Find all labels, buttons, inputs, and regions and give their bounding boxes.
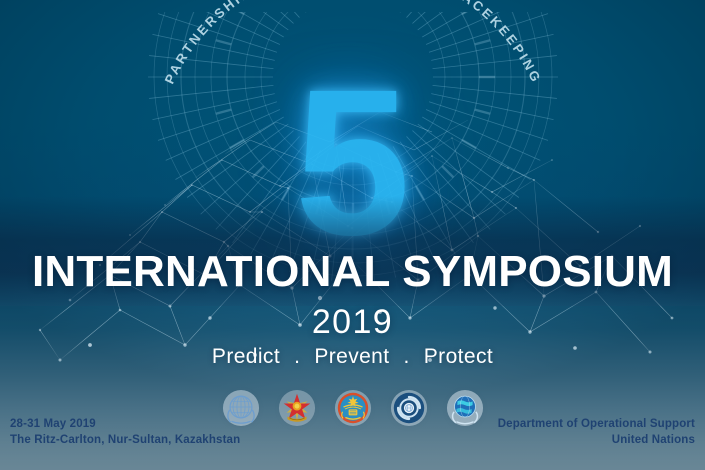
event-details: 28-31 May 2019 The Ritz-Carlton, Nur-Sul…	[10, 417, 240, 448]
event-dates: 28-31 May 2019	[10, 417, 240, 433]
organizer-organization: United Nations	[498, 433, 695, 449]
organizer-department: Department of Operational Support	[498, 417, 695, 433]
event-year: 2019	[0, 302, 705, 342]
red-star-emblem-icon	[278, 389, 316, 427]
organizer-details: Department of Operational Support United…	[498, 417, 695, 448]
tagline-separator-1: .	[294, 344, 300, 370]
blue-circular-emblem-icon	[390, 389, 428, 427]
symposium-banner: 5 PARTNERSHIP FOR TECHNOLOGY IN PEACEKEE…	[0, 0, 705, 470]
tagline-word-prevent: Prevent	[314, 345, 389, 368]
tagline-word-protect: Protect	[424, 345, 493, 368]
arc-tagline: PARTNERSHIP FOR TECHNOLOGY IN PEACEKEEPI…	[138, 0, 568, 196]
event-venue: The Ritz-Carlton, Nur-Sultan, Kazakhstan	[10, 433, 240, 449]
globe-wreath-emblem-icon	[446, 389, 484, 427]
kazakhstan-emblem-icon	[334, 389, 372, 427]
arc-tagline-textpath: PARTNERSHIP FOR TECHNOLOGY IN PEACEKEEPI…	[161, 0, 544, 86]
tagline-word-predict: Predict	[212, 345, 280, 368]
tagline-separator-2: .	[404, 344, 410, 370]
page-title: INTERNATIONAL SYMPOSIUM	[0, 246, 705, 298]
event-tagline: Predict.Prevent.Protect	[0, 344, 705, 370]
arc-tagline-text: PARTNERSHIP FOR TECHNOLOGY IN PEACEKEEPI…	[161, 0, 544, 86]
